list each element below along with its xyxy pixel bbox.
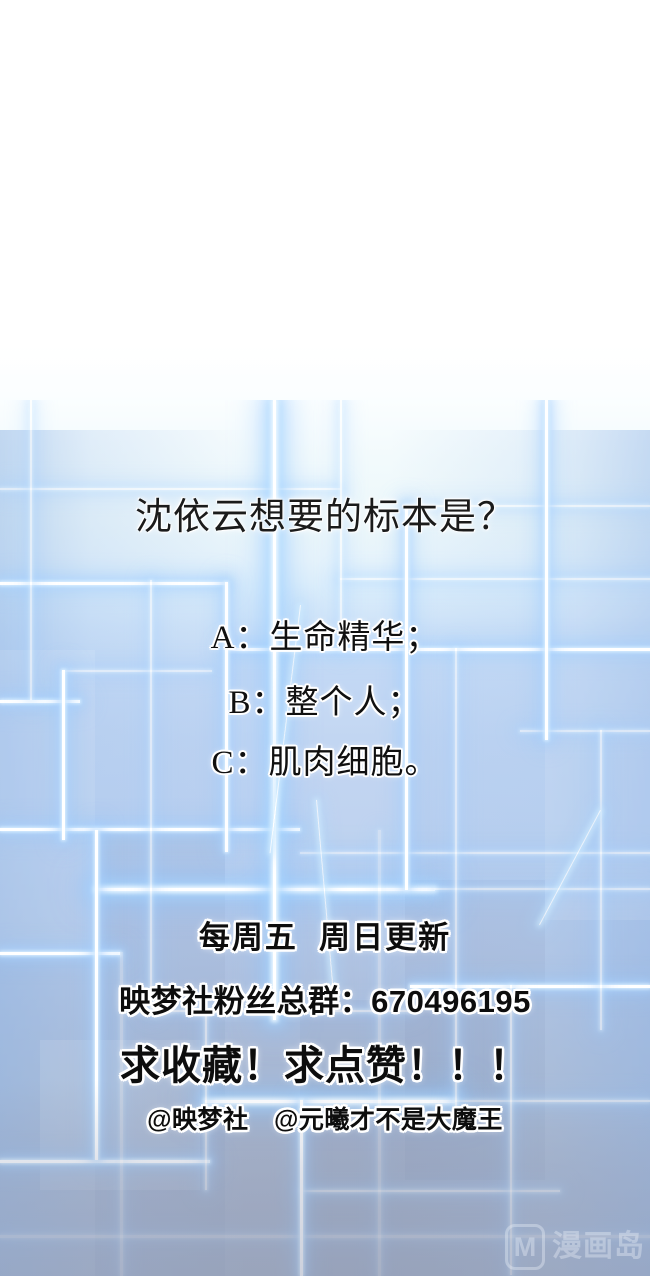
- grid-line-h: [62, 670, 212, 672]
- quiz-option-b: B：整个人；: [0, 683, 650, 723]
- grid-line-h: [95, 888, 435, 891]
- update-schedule: 每周五 周日更新: [0, 919, 650, 957]
- grid-line-h: [435, 888, 650, 890]
- quiz-question: 沈依云想要的标本是？: [0, 496, 650, 540]
- grid-line-h: [340, 578, 650, 580]
- quiz-option-c: C：肌肉细胞。: [0, 743, 650, 783]
- grid-line-h: [300, 852, 650, 854]
- call-to-action: 求收藏！求点赞！！！: [0, 1042, 650, 1090]
- fan-group-info: 映梦社粉丝总群：670496195: [0, 983, 650, 1021]
- grid-line-h: [520, 730, 650, 732]
- site-watermark: M 漫画岛: [505, 1223, 645, 1271]
- grid-line-h: [0, 582, 225, 585]
- comic-page: 沈依云想要的标本是？ A：生命精华； B：整个人； C：肌肉细胞。 每周五 周日…: [0, 0, 650, 1276]
- watermark-label: 漫画岛: [552, 1232, 645, 1262]
- grid-line-h: [0, 488, 340, 490]
- watermark-badge-icon: M: [505, 1224, 545, 1270]
- author-credits: @映梦社 @元曦才不是大魔王: [0, 1104, 650, 1136]
- quiz-option-a: A：生命精华；: [0, 618, 650, 658]
